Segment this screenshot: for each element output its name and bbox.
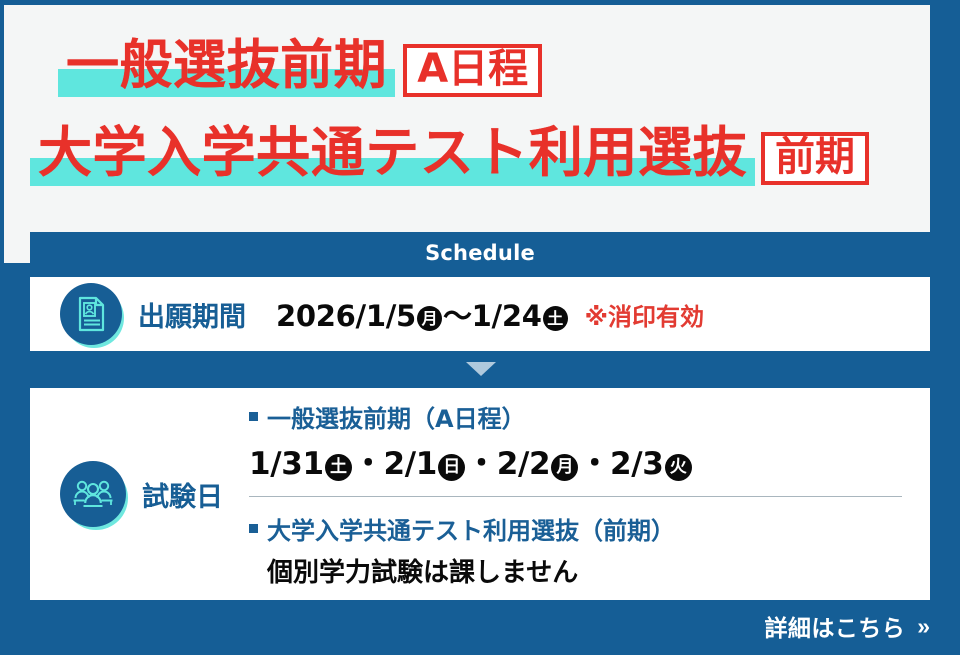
hero-title-line-2-text: 大学入学共通テスト利用選抜 — [38, 121, 747, 184]
exam-date-2-dow: 日 — [438, 454, 465, 481]
application-period-dates: 2026/1/5月～1/24土 — [276, 293, 569, 335]
exam-date-label: 試験日 — [142, 475, 223, 514]
application-start-dow: 月 — [417, 306, 442, 331]
hero-title-line-1-highlight-wrap: 一般選抜前期 — [66, 35, 387, 97]
exam-date-2: 2/1 — [384, 446, 438, 482]
details-link[interactable]: 詳細はこちら » — [764, 609, 930, 643]
square-bullet-icon — [249, 524, 258, 533]
admissions-schedule-banner: 一般選抜前期 A日程 大学入学共通テスト利用選抜 前期 Schedule — [0, 0, 960, 655]
hero-title-line-2: 大学入学共通テスト利用選抜 前期 — [38, 121, 869, 185]
application-range-separator: ～ — [443, 299, 472, 333]
application-start-date: 2026/1/5 — [276, 299, 416, 333]
exam-date-1-dow: 土 — [325, 454, 352, 481]
exam-date-sep-3: ・ — [579, 446, 610, 482]
exam-date-details: 一般選抜前期（A日程） 1/31土・2/1日・2/2月・2/3火 大学入学共通テ… — [249, 399, 930, 589]
hero-title-line-2-highlight-wrap: 大学入学共通テスト利用選抜 — [38, 121, 747, 185]
three-people-icon — [60, 461, 126, 527]
exam-entry-heading-common-test-text: 大学入学共通テスト利用選抜（前期） — [267, 511, 675, 546]
application-end-dow: 土 — [543, 306, 568, 331]
exam-date-4: 2/3 — [610, 446, 664, 482]
details-link-label: 詳細はこちら — [764, 609, 905, 643]
application-postmark-note: ※消印有効 — [585, 297, 704, 332]
exam-entry-heading-general-text: 一般選抜前期（A日程） — [267, 399, 526, 434]
chevron-down-icon — [466, 362, 496, 376]
document-person-icon — [60, 283, 122, 345]
exam-date-card: 試験日 一般選抜前期（A日程） 1/31土・2/1日・2/2月・2/3火 大学入… — [30, 388, 930, 600]
exam-date-sep-1: ・ — [353, 446, 384, 482]
tag-zenki: 前期 — [761, 132, 869, 185]
exam-date-3-dow: 月 — [551, 454, 578, 481]
exam-entry-note-common-test: 個別学力試験は課しません — [267, 552, 902, 589]
square-bullet-icon — [249, 412, 258, 421]
hero-title-area: 一般選抜前期 A日程 大学入学共通テスト利用選抜 前期 — [4, 5, 930, 263]
double-chevron-right-icon: » — [917, 615, 930, 638]
schedule-header-label: Schedule — [425, 241, 535, 265]
exam-date-1: 1/31 — [249, 446, 324, 482]
exam-date-sep-2: ・ — [466, 446, 497, 482]
tag-a-schedule: A日程 — [403, 44, 542, 97]
exam-date-3: 2/2 — [497, 446, 551, 482]
exam-date-4-dow: 火 — [665, 454, 692, 481]
hero-title-line-1: 一般選抜前期 A日程 — [66, 35, 542, 97]
application-period-label: 出願期間 — [138, 295, 246, 334]
application-period-card: 出願期間 2026/1/5月～1/24土 ※消印有効 — [30, 277, 930, 351]
exam-entry-heading-common-test: 大学入学共通テスト利用選抜（前期） — [249, 511, 902, 546]
application-end-date: 1/24 — [472, 299, 542, 333]
schedule-header-bar: Schedule — [30, 232, 930, 274]
hero-title-line-1-text: 一般選抜前期 — [66, 35, 387, 96]
exam-dates-general: 1/31土・2/1日・2/2月・2/3火 — [249, 438, 902, 483]
exam-entries-divider — [249, 496, 902, 497]
exam-entry-heading-general: 一般選抜前期（A日程） — [249, 399, 902, 434]
